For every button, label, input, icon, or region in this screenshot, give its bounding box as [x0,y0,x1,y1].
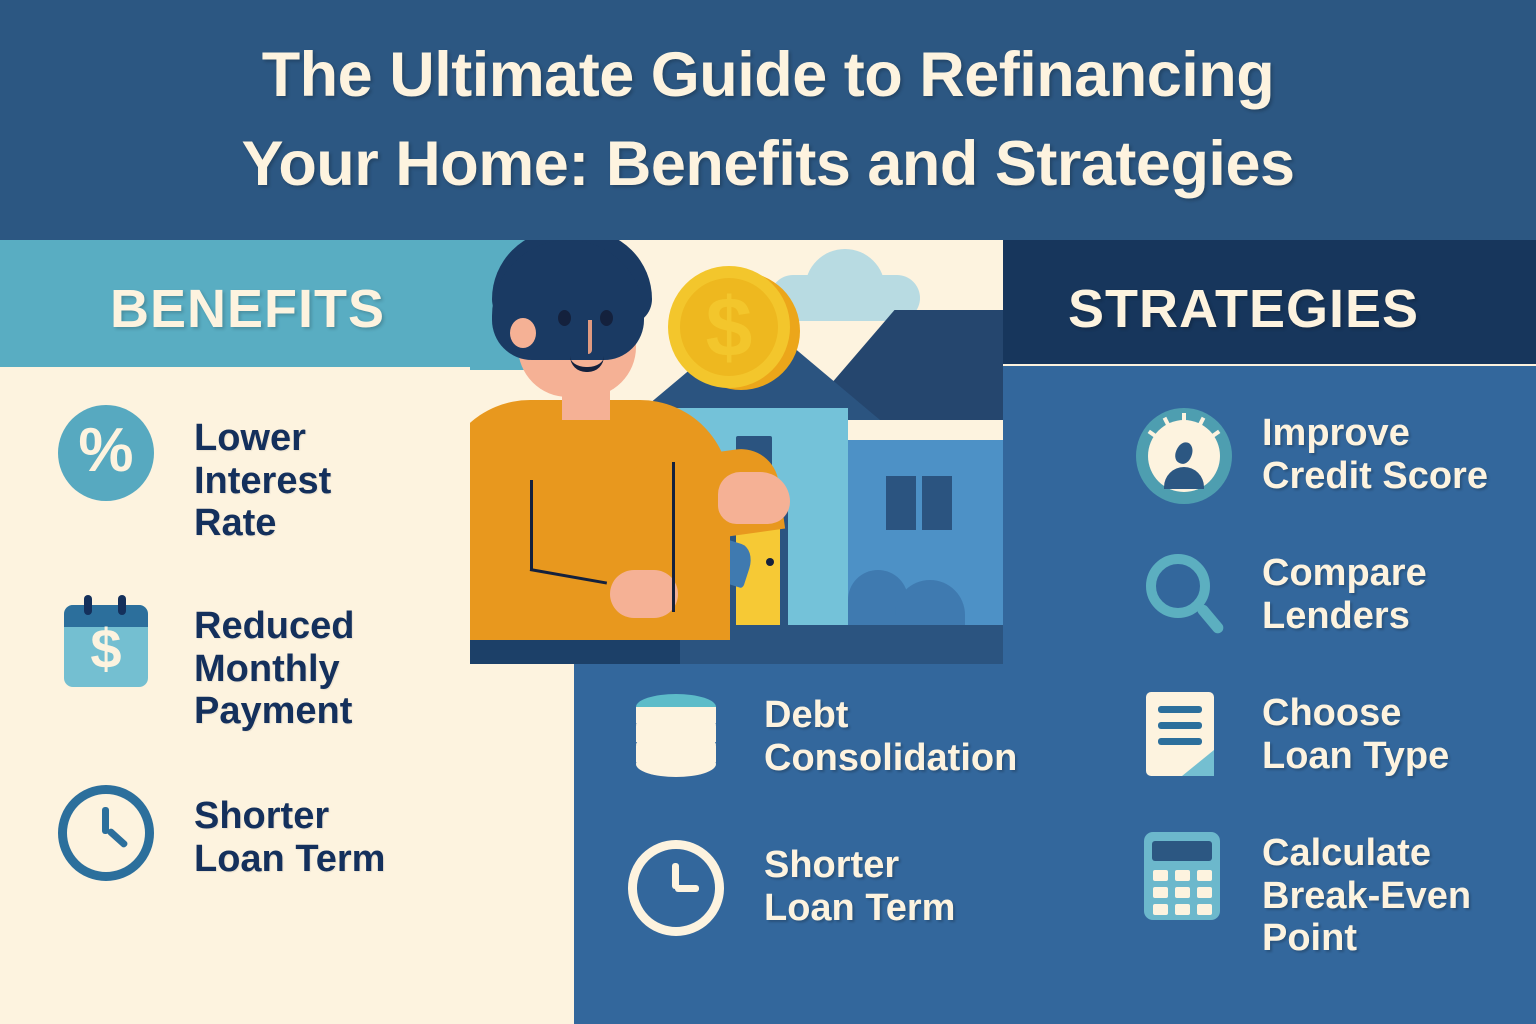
ground-bar-shadow [470,640,680,664]
middle-item-shorter-loan-term[interactable]: Shorter Loan Term [628,840,955,936]
middle-label-1: Shorter Loan Term [764,844,955,929]
sleeve-crease-line [530,480,533,570]
person-ear [510,318,536,348]
strategy-label-3: Calculate Break-Even Point [1262,832,1471,960]
clock-icon [58,785,154,881]
calculator-icon [1136,828,1232,924]
document-icon [1136,688,1232,784]
person-eye-right [600,310,613,326]
person-hand-lower [610,570,678,618]
strategy-item-improve-credit-score[interactable]: Improve Credit Score [1136,408,1488,504]
page-title-line-2: Your Home: Benefits and Strategies [241,120,1294,209]
coin-stack-icon [628,690,724,786]
hero-illustration: $ [470,240,1003,664]
dollar-sign-icon: $ [668,285,790,369]
infographic-canvas: $ The Ultimate Guide to Refinancing Your… [0,0,1536,1024]
strategy-label-0: Improve Credit Score [1262,412,1488,497]
benefit-item-lower-interest-rate[interactable]: % Lower Interest Rate [58,405,331,545]
benefit-label-0: Lower Interest Rate [194,417,331,545]
gauge-icon [1136,408,1232,504]
benefit-item-reduced-monthly-payment[interactable]: $ Reduced Monthly Payment [58,595,354,733]
clock-icon [628,840,724,936]
magnifier-icon [1136,548,1232,644]
sleeve-crease-line-3 [672,462,675,612]
benefit-label-1: Reduced Monthly Payment [194,605,354,733]
title-block: The Ultimate Guide to Refinancing Your H… [0,0,1536,240]
benefit-item-shorter-loan-term[interactable]: Shorter Loan Term [58,785,385,881]
strategy-label-2: Choose Loan Type [1262,692,1449,777]
percent-icon: % [58,405,154,501]
middle-item-debt-consolidation[interactable]: Debt Consolidation [628,690,1017,786]
strategy-label-1: Compare Lenders [1262,552,1427,637]
page-title-line-1: The Ultimate Guide to Refinancing [262,31,1275,120]
door-knob-icon [766,558,774,566]
person-hand-holding-coin [718,472,790,524]
person-neck [562,380,610,420]
middle-label-0: Debt Consolidation [764,694,1017,779]
strategy-item-compare-lenders[interactable]: Compare Lenders [1136,548,1427,644]
strategy-item-choose-loan-type[interactable]: Choose Loan Type [1136,688,1449,784]
house-wing-window-left [886,476,916,530]
benefits-heading: BENEFITS [110,278,385,340]
person-eye-left [558,310,571,326]
calendar-dollar-icon: $ [58,595,154,687]
person-nose [588,320,592,354]
house-wing-window-right [922,476,952,530]
strategies-heading: STRATEGIES [1068,278,1419,340]
strategy-item-calculate-break-even-point[interactable]: Calculate Break-Even Point [1136,828,1471,960]
benefit-label-2: Shorter Loan Term [194,795,385,880]
